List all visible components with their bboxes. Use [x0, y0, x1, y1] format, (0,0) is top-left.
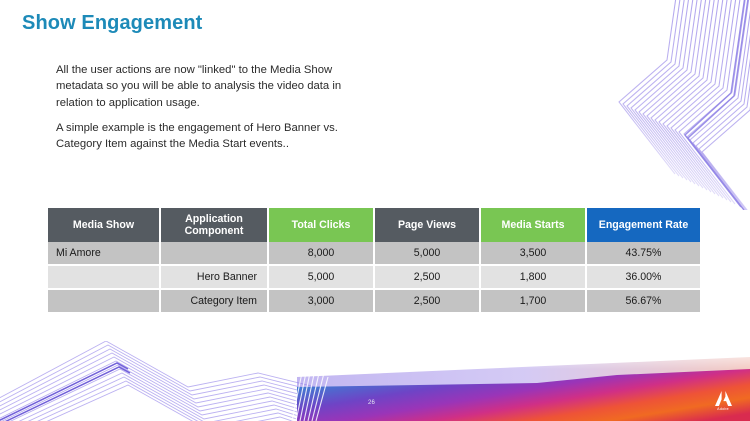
cell-page-views: 2,500: [374, 265, 480, 289]
chevron-line-artwork-top-right: [600, 0, 750, 210]
table-row: Category Item 3,000 2,500 1,700 56.67%: [48, 289, 700, 312]
body-paragraph-2: A simple example is the engagement of He…: [56, 120, 346, 153]
table-header-row: Media Show Application Component Total C…: [48, 208, 700, 242]
cell-page-views: 5,000: [374, 242, 480, 265]
cell-total-clicks: 3,000: [268, 289, 374, 312]
cell-media-show: [48, 265, 160, 289]
cell-application-component: Hero Banner: [160, 265, 268, 289]
cell-engagement-rate: 56.67%: [586, 289, 700, 312]
body-paragraph-1: All the user actions are now "linked" to…: [56, 62, 346, 111]
column-header-page-views[interactable]: Page Views: [374, 208, 480, 242]
bottom-gradient-band: [297, 343, 750, 421]
cell-application-component: Category Item: [160, 289, 268, 312]
table-row: Mi Amore 8,000 5,000 3,500 43.75%: [48, 242, 700, 265]
adobe-logo: Adobe: [710, 391, 736, 411]
cell-page-views: 2,500: [374, 289, 480, 312]
table-header: Media Show Application Component Total C…: [48, 208, 700, 242]
table-body: Mi Amore 8,000 5,000 3,500 43.75% Hero B…: [48, 242, 700, 312]
column-header-media-starts[interactable]: Media Starts: [480, 208, 586, 242]
cell-total-clicks: 8,000: [268, 242, 374, 265]
cell-media-starts: 3,500: [480, 242, 586, 265]
column-header-application-component[interactable]: Application Component: [160, 208, 268, 242]
column-header-media-show[interactable]: Media Show: [48, 208, 160, 242]
cell-media-starts: 1,800: [480, 265, 586, 289]
page-title: Show Engagement: [22, 12, 202, 35]
column-header-total-clicks[interactable]: Total Clicks: [268, 208, 374, 242]
cell-application-component: [160, 242, 268, 265]
cell-engagement-rate: 43.75%: [586, 242, 700, 265]
adobe-a-icon: [715, 391, 732, 406]
engagement-table: Media Show Application Component Total C…: [48, 208, 700, 312]
presentation-slide: Show Engagement All the user actions are…: [0, 0, 750, 421]
adobe-wordmark: Adobe: [710, 407, 736, 411]
table-row: Hero Banner 5,000 2,500 1,800 36.00%: [48, 265, 700, 289]
cell-total-clicks: 5,000: [268, 265, 374, 289]
cell-media-starts: 1,700: [480, 289, 586, 312]
cell-engagement-rate: 36.00%: [586, 265, 700, 289]
page-number: 26: [368, 400, 375, 406]
cell-media-show: [48, 289, 160, 312]
cell-media-show: Mi Amore: [48, 242, 160, 265]
column-header-engagement-rate[interactable]: Engagement Rate: [586, 208, 700, 242]
wave-line-artwork-bottom-left: [0, 341, 330, 421]
